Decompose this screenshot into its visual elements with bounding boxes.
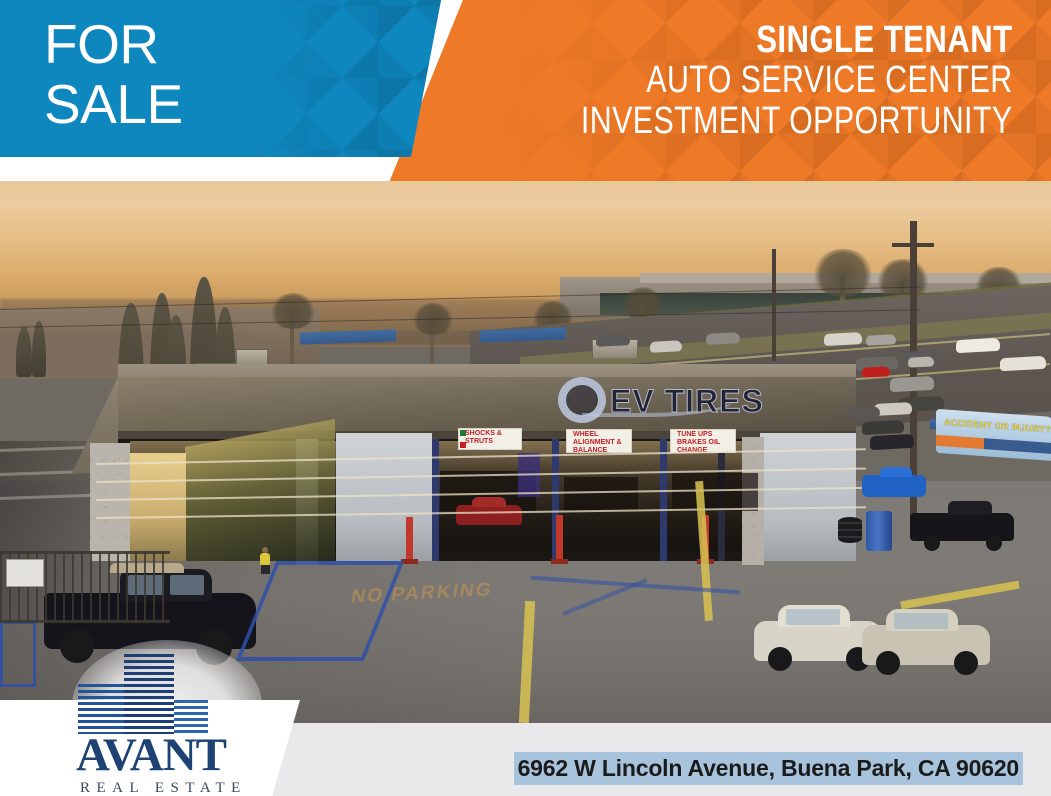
headline-line-1: SINGLE TENANT xyxy=(571,20,1013,60)
bay-equipment xyxy=(564,477,638,511)
logo-tower-left xyxy=(78,684,124,734)
logo-tagline: REAL ESTATE xyxy=(80,780,247,796)
street-car xyxy=(908,356,934,367)
wheel xyxy=(768,647,792,671)
headline-line-3: INVESTMENT OPPORTUNITY xyxy=(581,101,1013,142)
avant-real-estate-logo[interactable]: AVANT REAL ESTATE xyxy=(72,648,272,796)
wheel xyxy=(954,651,978,675)
ev-tires-sign-text: EV TIRES xyxy=(610,383,764,420)
wheel xyxy=(924,535,940,551)
service-banner: SHOCKS & STRUTS xyxy=(458,428,522,450)
street-car xyxy=(956,338,1000,353)
car-in-bay-roof xyxy=(472,497,506,507)
street-car xyxy=(890,376,934,392)
service-banner: TUNE UPS BRAKES OIL CHANGE xyxy=(670,429,736,453)
blue-car-roof xyxy=(880,467,912,477)
accessible-stall-paint xyxy=(0,621,36,687)
property-address: 6962 W Lincoln Avenue, Buena Park, CA 90… xyxy=(514,752,1023,785)
wheel xyxy=(986,535,1002,551)
wheel xyxy=(876,651,900,675)
headline-line-2: AUTO SERVICE CENTER xyxy=(581,60,1013,101)
showroom-window xyxy=(128,453,186,561)
ev-tires-sign: EV TIRES xyxy=(548,381,786,421)
bay-equipment xyxy=(672,473,758,511)
street-car xyxy=(706,332,740,345)
blue-barrel xyxy=(866,511,892,551)
street-car-red xyxy=(862,366,890,377)
bay-mullion xyxy=(660,439,667,561)
stone-veneer-wall xyxy=(90,443,130,561)
palm-crown xyxy=(270,293,316,329)
pickup-truck-right-cab xyxy=(948,501,992,515)
vehicle-lift-foot xyxy=(551,559,568,564)
service-banner-text: WHEEL ALIGNMENT & BALANCE xyxy=(573,431,629,453)
for-sale-badge: FOR SALE xyxy=(44,14,183,134)
pickup-window xyxy=(170,575,204,595)
street-car xyxy=(866,334,896,346)
service-banner: WHEEL ALIGNMENT & BALANCE xyxy=(566,429,632,453)
logo-tower-center xyxy=(124,654,174,734)
sedan-window xyxy=(786,609,840,625)
street-car xyxy=(596,334,630,347)
car-in-bay xyxy=(456,505,522,525)
utility-pole xyxy=(772,249,776,361)
person-shirt xyxy=(260,553,270,565)
blue-car xyxy=(862,475,926,497)
utility-pole-crossarm xyxy=(892,243,934,247)
flyer-header: FOR SALE SINGLE TENANT AUTO SERVICE CENT… xyxy=(0,0,1051,185)
street-car xyxy=(1000,356,1046,371)
fence-sign xyxy=(6,559,44,587)
vehicle-lift-post xyxy=(406,517,413,561)
tire-stack xyxy=(838,517,862,543)
property-flyer: FOR SALE SINGLE TENANT AUTO SERVICE CENT… xyxy=(0,0,1051,796)
headline-block: SINGLE TENANT AUTO SERVICE CENTER INVEST… xyxy=(473,20,1013,142)
for-sale-line-2: SALE xyxy=(44,74,183,134)
service-banner-text: TUNE UPS BRAKES OIL CHANGE xyxy=(677,431,733,453)
street-car xyxy=(824,332,862,346)
logo-wordmark: AVANT xyxy=(76,732,226,779)
street-car xyxy=(650,340,682,353)
vehicle-lift-post xyxy=(556,515,563,561)
street-car xyxy=(870,434,914,450)
person-legs xyxy=(261,565,270,574)
for-sale-line-1: FOR xyxy=(44,14,183,74)
sedan-window xyxy=(894,613,948,629)
street-car xyxy=(862,420,904,435)
street-car xyxy=(846,406,880,419)
service-banner-text: SHOCKS & STRUTS xyxy=(465,430,519,446)
